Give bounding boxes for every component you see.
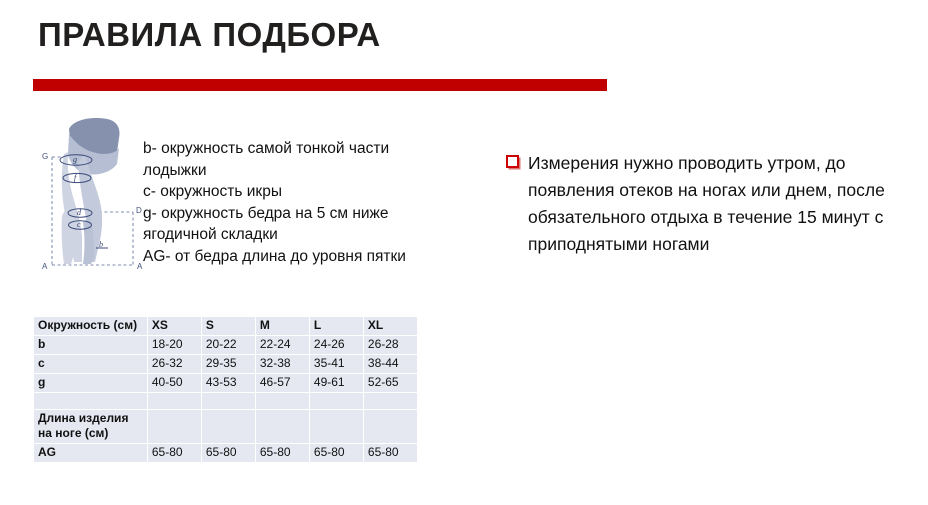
measurement-note-text: Измерения нужно проводить утром, до появ… [528, 150, 906, 258]
legend-line-ag: AG- от бедра длина до уровня пятки [143, 246, 443, 268]
cell-c-xl: 38-44 [364, 355, 417, 373]
cell-c-m: 32-38 [256, 355, 309, 373]
spacer-cell-xl [364, 393, 417, 409]
cell-b-m: 22-24 [256, 336, 309, 354]
cell-g-xl: 52-65 [364, 374, 417, 392]
frame-label-D: D [136, 206, 142, 215]
row-label-g: g [34, 374, 147, 392]
group-cell-s [202, 410, 255, 443]
column-header-xl: XL [364, 317, 417, 335]
cell-ag-xl: 65-80 [364, 444, 417, 462]
group-cell-xs [148, 410, 201, 443]
spacer-cell-m [256, 393, 309, 409]
group-cell-xl [364, 410, 417, 443]
table-row: AG 65-80 65-80 65-80 65-80 65-80 [34, 444, 417, 462]
table-spacer-row [34, 393, 417, 409]
ring-label-g: g [73, 155, 77, 164]
cell-c-s: 29-35 [202, 355, 255, 373]
cell-c-l: 35-41 [310, 355, 363, 373]
frame-label-G: G [42, 152, 48, 161]
cell-ag-m: 65-80 [256, 444, 309, 462]
column-header-xs: XS [148, 317, 201, 335]
column-header-m: M [256, 317, 309, 335]
legend-line-c: c- окружность икры [143, 181, 443, 203]
cell-g-xs: 40-50 [148, 374, 201, 392]
cell-b-l: 24-26 [310, 336, 363, 354]
table-row: b 18-20 20-22 22-24 24-26 26-28 [34, 336, 417, 354]
group-label-length: Длина изделия на ноге (см) [34, 410, 147, 443]
cell-ag-xs: 65-80 [148, 444, 201, 462]
spacer-cell-label [34, 393, 147, 409]
row-label-b: b [34, 336, 147, 354]
frame-label-A-left: A [42, 262, 48, 271]
legend-line-b: b- окружность самой тонкой части лодыжки [143, 138, 443, 181]
size-chart-table: Окружность (см) XS S M L XL b 18-20 20-2… [33, 316, 418, 463]
title-accent-rule [33, 79, 607, 91]
cell-c-xs: 26-32 [148, 355, 201, 373]
ring-label-f: f [74, 173, 78, 182]
table-group-header-row: Длина изделия на ноге (см) [34, 410, 417, 443]
cell-b-xl: 26-28 [364, 336, 417, 354]
cell-g-l: 49-61 [310, 374, 363, 392]
ring-label-c: c [77, 220, 81, 229]
cell-b-xs: 18-20 [148, 336, 201, 354]
table-header-row: Окружность (см) XS S M L XL [34, 317, 417, 335]
page-title: ПРАВИЛА ПОДБОРА [38, 16, 381, 54]
square-bullet-icon [506, 155, 519, 168]
column-header-measure: Окружность (см) [34, 317, 147, 335]
ring-label-d: d [77, 208, 82, 217]
spacer-cell-l [310, 393, 363, 409]
legend-line-g: g- окружность бедра на 5 см ниже ягодичн… [143, 203, 443, 246]
group-cell-l [310, 410, 363, 443]
row-label-c: c [34, 355, 147, 373]
table-row: g 40-50 43-53 46-57 49-61 52-65 [34, 374, 417, 392]
group-cell-m [256, 410, 309, 443]
table-row: c 26-32 29-35 32-38 35-41 38-44 [34, 355, 417, 373]
spacer-cell-xs [148, 393, 201, 409]
spacer-cell-s [202, 393, 255, 409]
leg-measurement-diagram: g f d c b G D A A [33, 112, 151, 292]
column-header-s: S [202, 317, 255, 335]
measurement-note: Измерения нужно проводить утром, до появ… [506, 150, 906, 258]
column-header-l: L [310, 317, 363, 335]
ring-label-b: b [99, 240, 103, 249]
cell-ag-s: 65-80 [202, 444, 255, 462]
cell-g-m: 46-57 [256, 374, 309, 392]
measurement-legend: b- окружность самой тонкой части лодыжки… [143, 138, 443, 267]
cell-ag-l: 65-80 [310, 444, 363, 462]
row-label-ag: AG [34, 444, 147, 462]
cell-g-s: 43-53 [202, 374, 255, 392]
cell-b-s: 20-22 [202, 336, 255, 354]
